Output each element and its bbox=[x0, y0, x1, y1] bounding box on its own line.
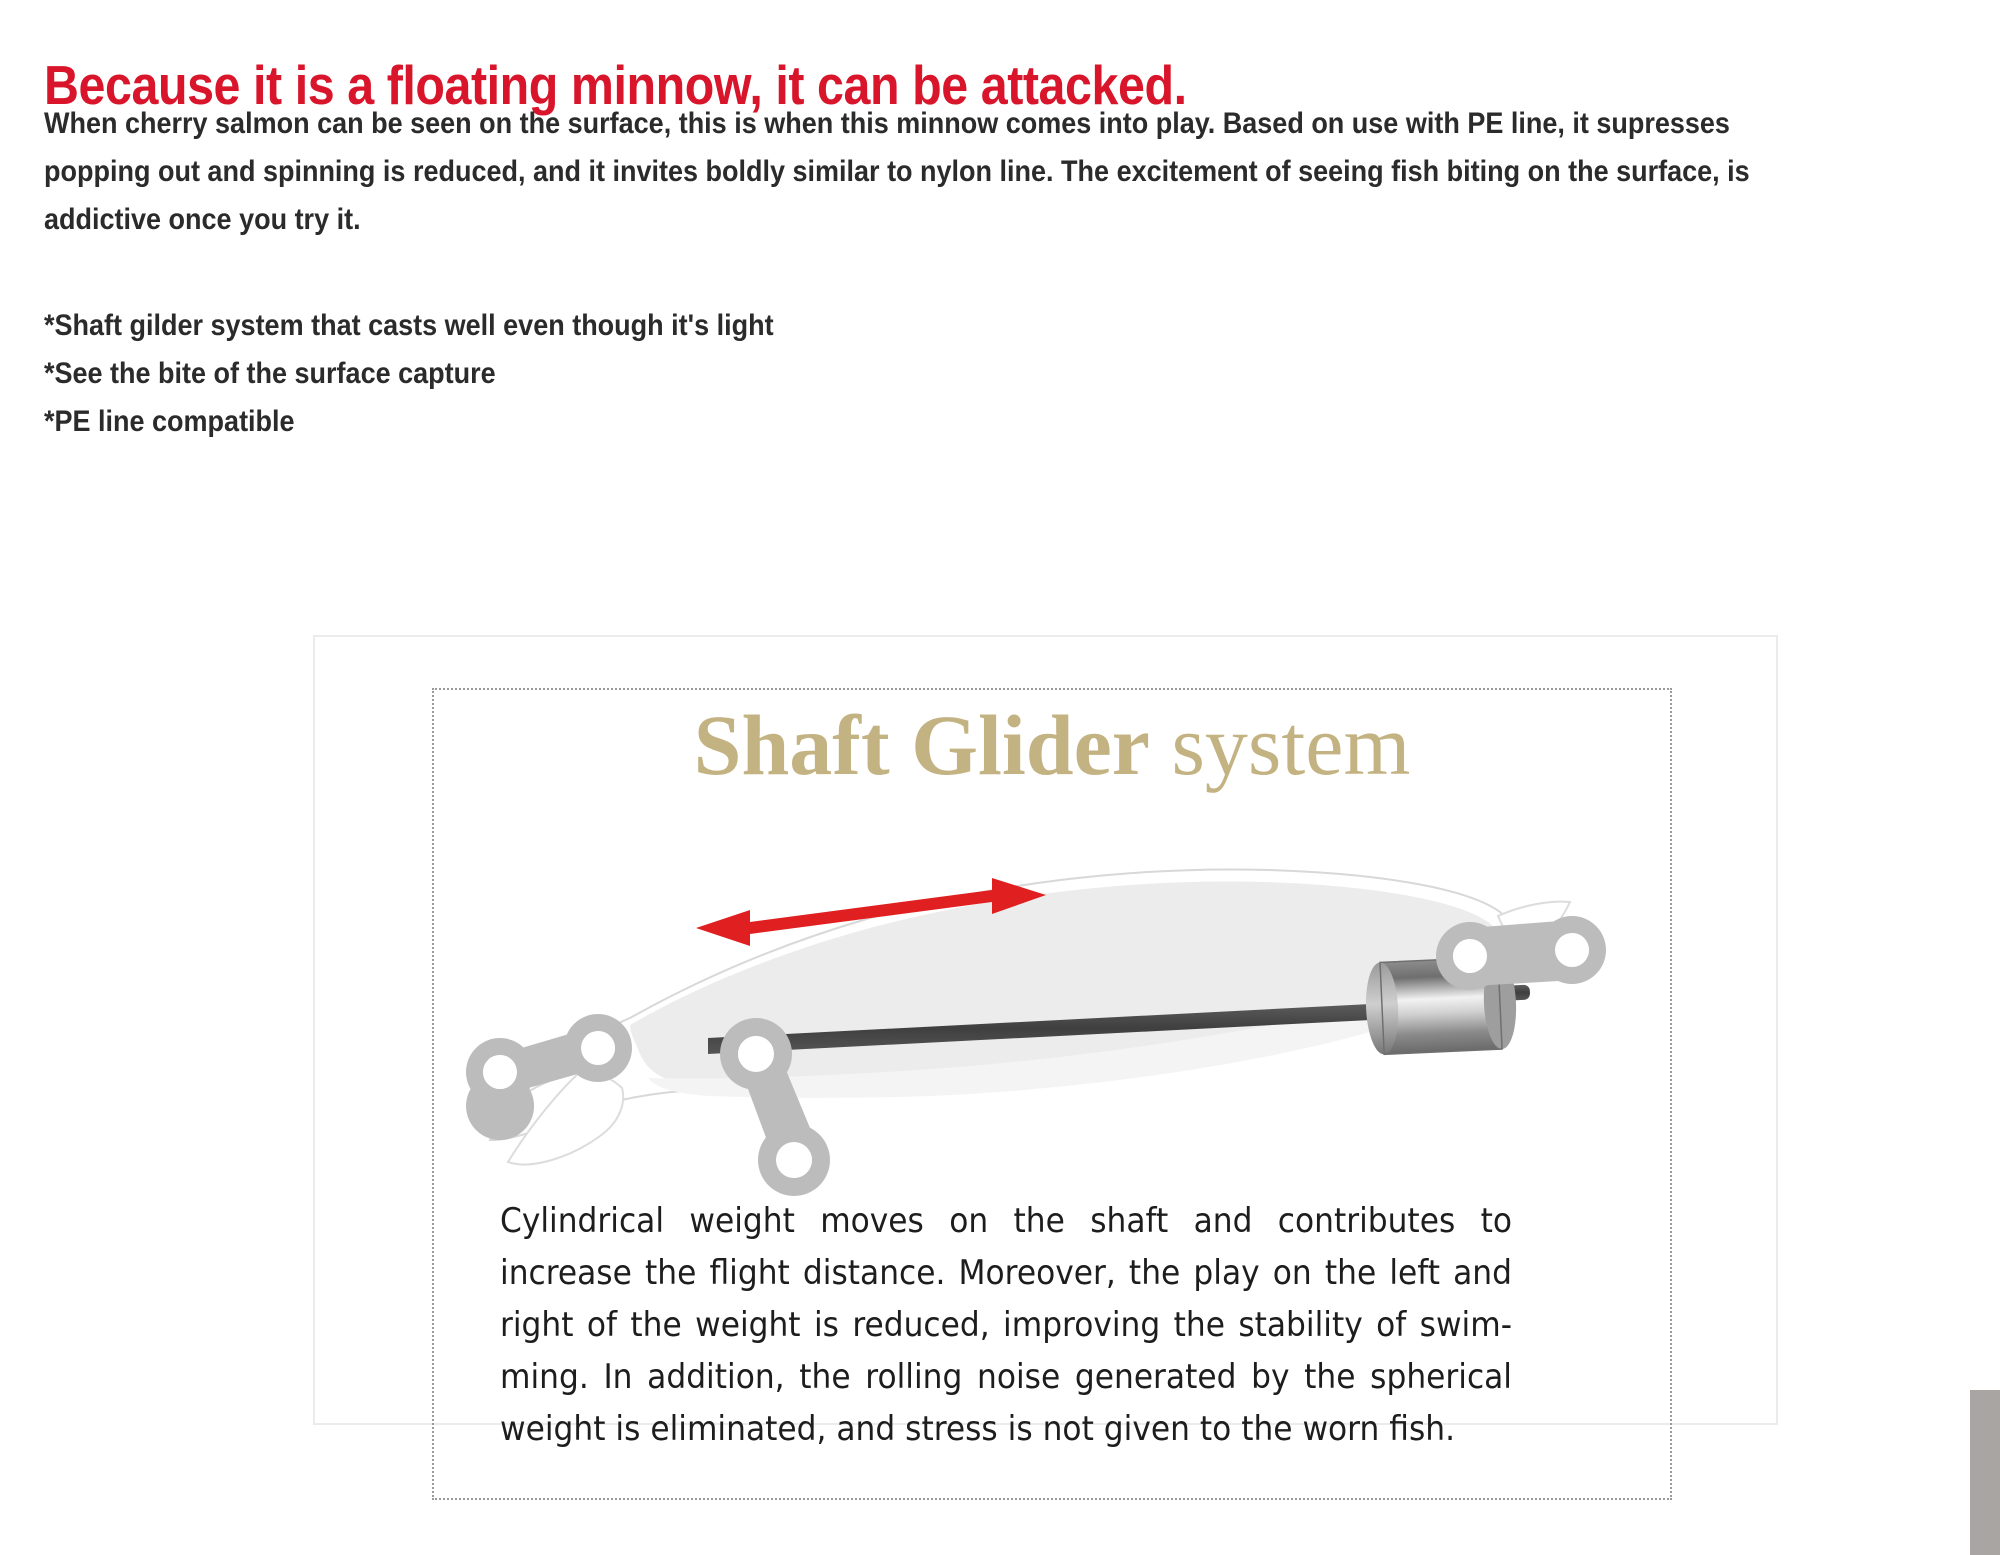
shaft-glider-diagram bbox=[430, 840, 1690, 1200]
feature-bullet-list: *Shaft gilder system that casts well eve… bbox=[44, 302, 1304, 446]
feature-bullet-2: *See the bite of the surface capture bbox=[44, 350, 1304, 398]
tail-split-ring bbox=[1436, 916, 1606, 990]
intro-paragraph: When cherry salmon can be seen on the su… bbox=[44, 100, 1772, 244]
scrollbar-track[interactable] bbox=[1968, 0, 2000, 1555]
figure-caption: Cylindrical weight moves on the shaft an… bbox=[500, 1195, 1512, 1455]
page-root: Because it is a floating minnow, it can … bbox=[0, 0, 2000, 1555]
scrollbar-thumb[interactable] bbox=[1970, 1390, 2000, 1555]
feature-bullet-3: *PE line compatible bbox=[44, 398, 1304, 446]
intro-paragraph-block: When cherry salmon can be seen on the su… bbox=[44, 100, 1772, 244]
shaft-glider-title-regular: system bbox=[1150, 697, 1410, 793]
shaft-glider-title: Shaft Glider system bbox=[432, 700, 1672, 790]
feature-bullet-1: *Shaft gilder system that casts well eve… bbox=[44, 302, 1304, 350]
shaft-glider-title-bold: Shaft Glider bbox=[694, 697, 1150, 793]
